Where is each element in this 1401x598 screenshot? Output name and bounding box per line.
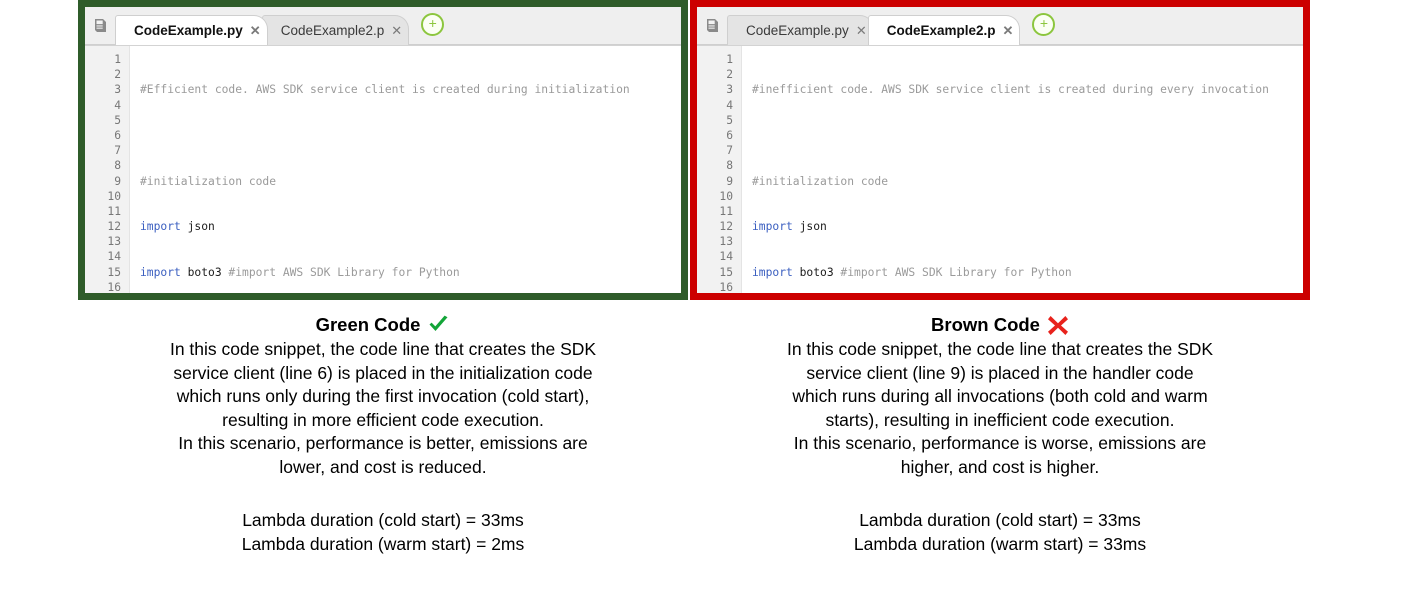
- document-icon: [697, 7, 727, 45]
- green-caption: Green Code In this code snippet, the cod…: [78, 300, 688, 556]
- line-number: 16: [703, 280, 733, 295]
- brown-caption: Brown Code In this code snippet, the cod…: [690, 300, 1310, 556]
- plus-circle-icon[interactable]: +: [1032, 13, 1055, 36]
- line-number: 14: [703, 249, 733, 264]
- plus-circle-icon[interactable]: +: [421, 13, 444, 36]
- green-code-text[interactable]: #Efficient code. AWS SDK service client …: [130, 46, 681, 295]
- brown-caption-line: which runs during all invocations (both …: [690, 385, 1310, 409]
- metric-cold-start: Lambda duration (cold start) = 33ms: [690, 508, 1310, 532]
- close-icon[interactable]: ✕: [250, 24, 261, 37]
- code-comment: #initialization code: [752, 175, 888, 188]
- comparison-figure: CodeExample.py ✕ CodeExample2.p ✕ + 1 2 …: [0, 0, 1401, 598]
- code-line: #initialization code: [140, 174, 681, 189]
- brown-caption-line: higher, and cost is higher.: [690, 456, 1310, 480]
- line-number: 1: [91, 52, 121, 67]
- line-number: 9: [703, 174, 733, 189]
- brown-code-editor-window: CodeExample.py ✕ CodeExample2.p ✕ + 1 2 …: [690, 0, 1310, 300]
- brown-caption-title: Brown Code: [690, 312, 1310, 338]
- code-comment: #import AWS SDK Library for Python: [228, 266, 459, 279]
- green-code-editor-window: CodeExample.py ✕ CodeExample2.p ✕ + 1 2 …: [78, 0, 688, 300]
- line-number: 15: [91, 265, 121, 280]
- caption-title-text: Green Code: [316, 313, 421, 337]
- brown-metrics: Lambda duration (cold start) = 33ms Lamb…: [690, 508, 1310, 556]
- line-number: 5: [91, 113, 121, 128]
- line-number: 10: [703, 189, 733, 204]
- line-number: 3: [91, 82, 121, 97]
- check-icon: [427, 315, 450, 335]
- green-line-number-gutter: 1 2 3 4 5 6 7 8 9 10 11 12 13 14 15 16: [85, 46, 130, 295]
- line-number: 16: [91, 280, 121, 295]
- green-code-column: CodeExample.py ✕ CodeExample2.p ✕ + 1 2 …: [78, 0, 698, 556]
- line-number: 8: [703, 158, 733, 173]
- green-editor-tabstrip: CodeExample.py ✕ CodeExample2.p ✕ +: [85, 7, 681, 46]
- code-comment: #Efficient code. AWS SDK service client …: [140, 83, 630, 96]
- line-number: 7: [703, 143, 733, 158]
- line-number: 5: [703, 113, 733, 128]
- metric-warm-start: Lambda duration (warm start) = 2ms: [78, 532, 688, 556]
- metric-cold-start: Lambda duration (cold start) = 33ms: [78, 508, 688, 532]
- green-tab-codeexample2-py[interactable]: CodeExample2.p ✕: [262, 15, 409, 45]
- green-caption-line: which runs only during the first invocat…: [78, 385, 688, 409]
- code-line: #inefficient code. AWS SDK service clien…: [752, 82, 1303, 97]
- brown-tab-codeexample2-py[interactable]: CodeExample2.p ✕: [868, 15, 1021, 45]
- line-number: 4: [703, 98, 733, 113]
- green-caption-line: lower, and cost is reduced.: [78, 456, 688, 480]
- metric-warm-start: Lambda duration (warm start) = 33ms: [690, 532, 1310, 556]
- line-number: 2: [91, 67, 121, 82]
- line-number: 4: [91, 98, 121, 113]
- brown-tab-codeexample-py[interactable]: CodeExample.py ✕: [727, 15, 874, 45]
- document-icon: [85, 7, 115, 45]
- line-number: 13: [703, 234, 733, 249]
- green-code-area: 1 2 3 4 5 6 7 8 9 10 11 12 13 14 15 16: [85, 46, 681, 295]
- green-metrics: Lambda duration (cold start) = 33ms Lamb…: [78, 508, 688, 556]
- line-number: 11: [91, 204, 121, 219]
- tab-label: CodeExample.py: [746, 23, 849, 38]
- line-number: 1: [703, 52, 733, 67]
- tab-label: CodeExample2.p: [281, 23, 385, 38]
- brown-caption-line: service client (line 9) is placed in the…: [690, 362, 1310, 386]
- brown-code-column: CodeExample.py ✕ CodeExample2.p ✕ + 1 2 …: [690, 0, 1310, 556]
- green-caption-line: In this code snippet, the code line that…: [78, 338, 688, 362]
- green-caption-line: resulting in more efficient code executi…: [78, 409, 688, 433]
- line-number: 11: [703, 204, 733, 219]
- code-comment: #inefficient code. AWS SDK service clien…: [752, 83, 1269, 96]
- close-icon[interactable]: ✕: [1003, 24, 1014, 37]
- code-comment: #import AWS SDK Library for Python: [840, 266, 1071, 279]
- brown-editor-tabstrip: CodeExample.py ✕ CodeExample2.p ✕ +: [697, 7, 1303, 46]
- brown-line-number-gutter: 1 2 3 4 5 6 7 8 9 10 11 12 13 14 15 16: [697, 46, 742, 295]
- code-line: [752, 128, 1303, 143]
- code-line: [140, 128, 681, 143]
- cross-icon: [1047, 315, 1069, 336]
- code-keyword: import: [752, 220, 793, 233]
- line-number: 6: [703, 128, 733, 143]
- close-icon[interactable]: ✕: [391, 24, 402, 37]
- line-number: 3: [703, 82, 733, 97]
- code-keyword: import: [140, 266, 181, 279]
- code-line: import json: [140, 219, 681, 234]
- line-number: 6: [91, 128, 121, 143]
- code-keyword: import: [752, 266, 793, 279]
- brown-code-area: 1 2 3 4 5 6 7 8 9 10 11 12 13 14 15 16: [697, 46, 1303, 295]
- code-keyword: import: [140, 220, 181, 233]
- code-line: import json: [752, 219, 1303, 234]
- tab-label: CodeExample2.p: [887, 23, 996, 38]
- green-caption-line: service client (line 6) is placed in the…: [78, 362, 688, 386]
- line-number: 7: [91, 143, 121, 158]
- green-caption-title: Green Code: [78, 312, 688, 338]
- green-tab-codeexample-py[interactable]: CodeExample.py ✕: [115, 15, 268, 45]
- line-number: 2: [703, 67, 733, 82]
- code-line: import boto3 #import AWS SDK Library for…: [752, 265, 1303, 280]
- brown-caption-line: In this code snippet, the code line that…: [690, 338, 1310, 362]
- brown-code-text[interactable]: #inefficient code. AWS SDK service clien…: [742, 46, 1303, 295]
- line-number: 8: [91, 158, 121, 173]
- tab-label: CodeExample.py: [134, 23, 243, 38]
- code-line: #initialization code: [752, 174, 1303, 189]
- line-number: 14: [91, 249, 121, 264]
- caption-title-text: Brown Code: [931, 313, 1040, 337]
- close-icon[interactable]: ✕: [856, 24, 867, 37]
- line-number: 9: [91, 174, 121, 189]
- brown-caption-line: In this scenario, performance is worse, …: [690, 432, 1310, 456]
- line-number: 10: [91, 189, 121, 204]
- line-number: 13: [91, 234, 121, 249]
- code-comment: #initialization code: [140, 175, 276, 188]
- code-line: #Efficient code. AWS SDK service client …: [140, 82, 681, 97]
- brown-caption-line: starts), resulting in inefficient code e…: [690, 409, 1310, 433]
- line-number: 15: [703, 265, 733, 280]
- green-caption-line: In this scenario, performance is better,…: [78, 432, 688, 456]
- line-number: 12: [91, 219, 121, 234]
- line-number: 12: [703, 219, 733, 234]
- code-line: import boto3 #import AWS SDK Library for…: [140, 265, 681, 280]
